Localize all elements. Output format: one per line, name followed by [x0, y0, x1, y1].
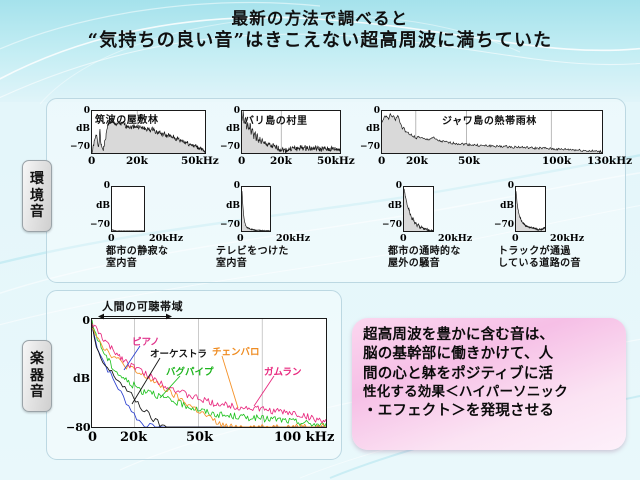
callout-line: 性化する効果＜ハイパーソニック — [363, 383, 617, 401]
plot-area-quiet-indoor — [111, 186, 145, 232]
ytick-top: 0 — [226, 106, 240, 116]
y-axis-label: dB — [72, 124, 90, 134]
tag-char: 器 — [30, 368, 44, 385]
ytick-bottom: −80 — [66, 421, 90, 434]
chart-title-tsukuba: 筑波の屋敷林 — [95, 111, 159, 126]
ytick-top: 0 — [96, 181, 110, 191]
caption-line: 室内音 — [106, 258, 168, 270]
ytick-bottom: −70 — [220, 142, 240, 152]
ytick-top: 0 — [366, 106, 380, 116]
xtick-20k: 20k — [126, 155, 148, 167]
y-axis-label: dB — [222, 201, 240, 211]
xtick-100kHz: 100 kHz — [274, 430, 334, 445]
series-label-bagpipe: バグパイプ — [166, 364, 214, 378]
xtick-50k: 50k — [458, 155, 480, 167]
ytick-bottom: −70 — [90, 220, 110, 230]
ytick-bottom: −70 — [70, 142, 90, 152]
caption-tv-indoor: テレビをつけた 室内音 — [216, 246, 289, 271]
caption-line: 都市の静寂な — [106, 246, 168, 258]
series-label-orchestra: オーケストラ — [150, 346, 207, 360]
y-axis-label: dB — [496, 201, 514, 211]
caption-truck-road: トラックが通過 している道路の音 — [498, 246, 581, 271]
chart-title-bali: バリ島の村里 — [244, 112, 308, 127]
ytick-bottom: −70 — [220, 220, 240, 230]
ytick-top: 0 — [500, 181, 514, 191]
xtick-130k: 130kHz — [587, 155, 632, 167]
tag-char: 音 — [30, 204, 44, 221]
callout-line: 超高周波を豊かに含む音は、 — [363, 325, 617, 344]
xtick-50k: 50kHz — [181, 155, 219, 167]
ytick-top: 0 — [226, 181, 240, 191]
plot-area-tv-indoor — [241, 186, 271, 232]
xtick-50k: 50kHz — [317, 155, 355, 167]
chart-java: 0 dB −70 ジャワ島の熱帯雨林 0 20k 50k 100k 130kHz — [378, 110, 613, 172]
title-line-1: 最新の方法で調べると — [0, 8, 640, 29]
slide-title: 最新の方法で調べると “気持ちの良い音”はきこえない超高周波に満ちていた — [0, 8, 640, 53]
tag-char: 楽 — [30, 351, 44, 368]
category-tag-instrument: 楽 器 音 — [22, 340, 52, 412]
xtick-100k: 100k — [542, 155, 571, 167]
caption-line: 都市の通時的な — [388, 246, 461, 258]
y-axis-label: dB — [70, 372, 90, 385]
chart-instruments: 人間の可聴帯域 0 dB −80 0 20k 50k 100 kHz ピアノ オ… — [88, 300, 338, 450]
ytick-top: 0 — [76, 106, 90, 116]
chart-tsukuba: 0 dB −70 筑波の屋敷林 0 20k 50kHz — [88, 110, 218, 172]
callout-line: 間の心と躰をポジティブに活 — [363, 364, 617, 383]
caption-line: している道路の音 — [498, 258, 581, 270]
callout-line: 脳の基幹部に働きかけて、人 — [363, 344, 617, 363]
y-axis-label: dB — [92, 201, 110, 211]
audible-range-arrow — [98, 312, 172, 321]
chart-quiet-indoor: 0 dB −70 0 20kHz 都市の静寂な 室内音 — [108, 186, 228, 276]
hypersonic-effect-callout: 超高周波を豊かに含む音は、 脳の基幹部に働きかけて、人 間の心と躰をポジティブに… — [352, 318, 626, 450]
xtick-50k: 50k — [186, 430, 213, 445]
caption-line: トラックが通過 — [498, 246, 581, 258]
xtick-0: 0 — [400, 233, 407, 244]
ytick-top: 0 — [75, 314, 90, 327]
series-label-gamelan: ガムラン — [264, 364, 302, 378]
series-label-harpsichord: チェンバロ — [212, 344, 260, 358]
ytick-bottom: −70 — [360, 142, 380, 152]
y-axis-label: dB — [222, 124, 240, 134]
tag-char: 音 — [30, 384, 44, 401]
xtick-0: 0 — [238, 155, 245, 167]
tag-char: 境 — [30, 188, 44, 205]
category-tag-environmental: 環 境 音 — [22, 160, 52, 232]
chart-bali: 0 dB −70 バリ島の村里 0 20k 50kHz — [238, 110, 363, 172]
caption-line: テレビをつけた — [216, 246, 289, 258]
xtick-20k: 20k — [406, 155, 428, 167]
caption-line: 屋外の騒音 — [388, 258, 461, 270]
xtick-0: 0 — [378, 155, 385, 167]
xtick-20k: 20k — [120, 430, 147, 445]
xtick-0: 0 — [237, 233, 244, 244]
chart-truck-road: 0 dB −70 0 20kHz トラックが通過 している道路の音 — [512, 186, 634, 276]
tag-char: 環 — [30, 171, 44, 188]
xtick-20kHz: 20kHz — [276, 233, 310, 244]
ytick-top: 0 — [388, 181, 402, 191]
xtick-20kHz: 20kHz — [438, 233, 472, 244]
xtick-0: 0 — [88, 155, 95, 167]
callout-line: ・エフェクト＞を発現させる — [363, 401, 617, 420]
plot-area-urban-outdoor — [403, 186, 434, 232]
caption-line: 室内音 — [216, 258, 289, 270]
xtick-0: 0 — [108, 233, 115, 244]
ytick-bottom: −70 — [494, 220, 514, 230]
xtick-20kHz: 20kHz — [550, 233, 584, 244]
ytick-bottom: −70 — [382, 220, 402, 230]
chart-tv-indoor: 0 dB −70 0 20kHz テレビをつけた 室内音 — [238, 186, 363, 276]
xtick-0: 0 — [88, 430, 97, 445]
y-axis-label: dB — [362, 124, 380, 134]
xtick-0: 0 — [512, 233, 519, 244]
y-axis-label: dB — [384, 201, 402, 211]
caption-quiet-indoor: 都市の静寂な 室内音 — [106, 246, 168, 271]
title-line-2: “気持ちの良い音”はきこえない超高周波に満ちていた — [0, 29, 640, 52]
chart-title-java: ジャワ島の熱帯雨林 — [442, 112, 537, 127]
xtick-20k: 20k — [270, 155, 292, 167]
xtick-20kHz: 20kHz — [149, 233, 183, 244]
plot-area-truck-road — [515, 186, 546, 232]
caption-urban-outdoor: 都市の通時的な 屋外の騒音 — [388, 246, 461, 271]
